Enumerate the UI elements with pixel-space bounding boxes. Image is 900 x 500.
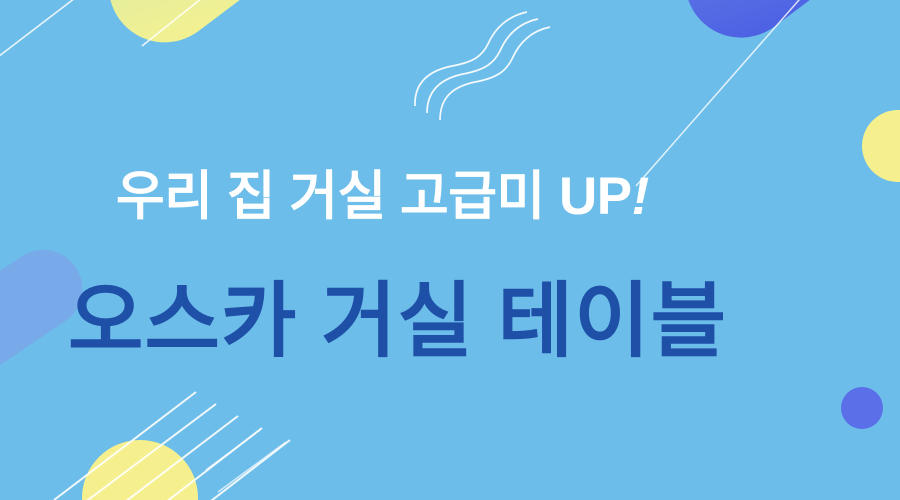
- text-layer: 우리 집 거실 고급미 UP! 오스카 거실 테이블: [0, 0, 900, 500]
- headline-main: 오스카 거실 테이블: [68, 281, 727, 363]
- headline-subtitle-exclamation: !: [632, 167, 649, 226]
- promo-banner: 우리 집 거실 고급미 UP! 오스카 거실 테이블: [0, 0, 900, 500]
- headline-subtitle-text: 우리 집 거실 고급미 UP: [116, 167, 632, 226]
- headline-subtitle: 우리 집 거실 고급미 UP!: [116, 170, 649, 223]
